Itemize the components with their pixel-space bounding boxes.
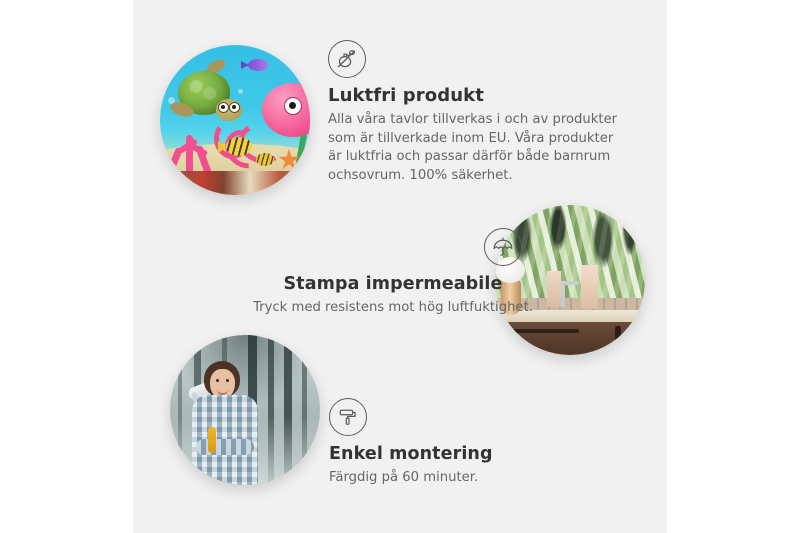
yellow-striped-fish (226, 137, 252, 156)
feature-description: Alla våra tavlor tillverkas i och av pro… (328, 111, 628, 185)
purple-fish (248, 59, 268, 71)
feature-title: Stampa impermeabile (228, 273, 558, 295)
feature-icon-row (328, 40, 628, 78)
paint-roller-icon (329, 398, 367, 436)
feature-title: Luktfri produkt (328, 85, 628, 107)
woman-eye (226, 379, 229, 382)
feature-waterproof: Stampa impermeabile Tryck med resistens … (228, 228, 558, 318)
woman-with-paint-roller-photo (170, 335, 320, 485)
faucet (561, 281, 565, 307)
infographic-panel: Luktfri produkt Alla våra tavlor tillver… (133, 0, 667, 533)
bubble-icon (238, 89, 243, 94)
feature-title: Enkel montering (329, 443, 629, 465)
yellow-tool-grip (208, 427, 216, 453)
underwater-kids-scene-photo (160, 45, 310, 195)
no-odour-spray-bottle-icon (328, 40, 366, 78)
turtle-eye (218, 102, 229, 113)
woman-eye (216, 379, 219, 382)
feature-easy-installation: Enkel montering Färgdig på 60 minuter. (329, 398, 629, 488)
feature-icon-row (329, 398, 629, 436)
rolled-towel (581, 265, 598, 309)
yellow-striped-fish (256, 153, 274, 166)
feature-icon-row (228, 228, 558, 266)
turtle-eye (229, 102, 240, 113)
wooden-vanity-cabinet (495, 322, 645, 355)
umbrella-icon (484, 228, 522, 266)
octopus-eye (284, 97, 302, 115)
feature-description: Tryck med resistens mot hög luftfuktighe… (228, 299, 558, 318)
feature-odourless: Luktfri produkt Alla våra tavlor tillver… (328, 40, 628, 185)
infographic-page: Luktfri produkt Alla våra tavlor tillver… (0, 0, 800, 533)
woman-crossed-arms (196, 439, 254, 455)
feature-description: Färgdig på 60 minuter. (329, 469, 629, 488)
photo-bottom-strip (160, 171, 310, 195)
